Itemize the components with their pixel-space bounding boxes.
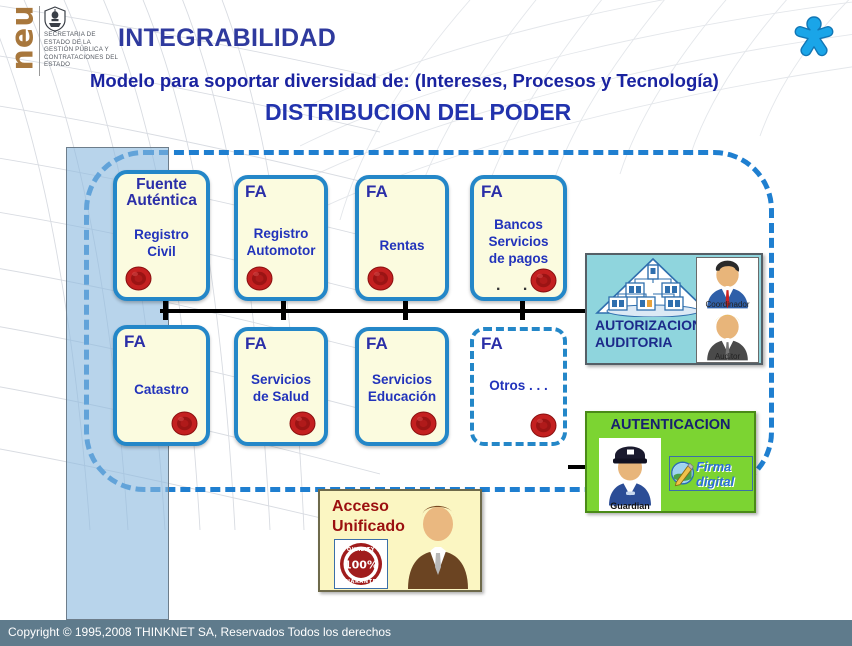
acceso-line2: Unificado [332, 517, 405, 537]
logo-divider [39, 6, 40, 76]
badge-percent: 100% [344, 559, 378, 572]
fa-tag: FA [366, 182, 388, 201]
fa-tag: Fuente Auténtica [117, 177, 206, 209]
acceso-label: Acceso Unificado [332, 497, 405, 537]
integration-bus-line [160, 309, 592, 313]
fa-tag: FA [481, 334, 503, 353]
fa-box-servicios-educacion[interactable]: FA Servicios Educación [355, 327, 449, 446]
fa-title: Registro Civil [117, 226, 206, 260]
bus-connector-tick [403, 301, 408, 320]
footer-bar: Copyright © 1995,2008 THINKNET SA, Reser… [0, 620, 852, 646]
fa-title: Servicios de Salud [238, 371, 324, 405]
fa-tag: FA [481, 182, 503, 201]
acceso-unificado-panel[interactable]: Acceso Unificado 100% QUALITY GUARANT [318, 489, 482, 592]
page-heading: DISTRIBUCION DEL PODER [265, 99, 571, 126]
svg-text:GUARANTEE: GUARANTEE [341, 579, 380, 585]
wax-seal-icon [367, 266, 394, 291]
autorizacion-line2: AUDITORIA [595, 334, 702, 351]
role-auditor[interactable]: Auditor [697, 310, 758, 362]
coat-of-arms-icon [42, 6, 68, 32]
role-coordinador[interactable]: Coordinador [697, 258, 758, 310]
wax-seal-icon [171, 411, 198, 436]
role-caption: Coordinador [697, 300, 758, 309]
bus-connector-tick [520, 301, 525, 320]
fa-title: Registro Automotor [238, 225, 324, 259]
firma-line1: Firma [696, 459, 734, 474]
firma-digital-badge[interactable]: Firma digital [669, 456, 753, 491]
wax-seal-icon [530, 413, 557, 438]
fa-tag: FA [245, 334, 267, 353]
autorizacion-auditoria-panel[interactable]: AUTORIZACION AUDITORIA Coordinador [585, 253, 763, 365]
copyright-text: Copyright © 1995,2008 THINKNET SA, Reser… [8, 625, 391, 639]
wax-seal-icon [530, 268, 557, 293]
fa-title: Rentas [359, 237, 445, 254]
fa-box-catastro[interactable]: FA Catastro [113, 325, 210, 446]
wax-seal-icon [289, 411, 316, 436]
autorizacion-line1: AUTORIZACION [595, 317, 702, 334]
fa-box-servicios-de-salud[interactable]: FA Servicios de Salud [234, 327, 328, 446]
quality-guarantee-badge-icon: 100% QUALITY GUARANTEE [334, 539, 388, 589]
fa-box-bancos-servicios-de-pagos[interactable]: FA Bancos Servicios de pagos . . [470, 175, 567, 301]
wax-seal-icon [125, 266, 152, 291]
acceso-line1: Acceso [332, 497, 405, 517]
firma-line2: digital [696, 474, 734, 489]
fa-tag: FA [124, 332, 146, 351]
autorizacion-label: AUTORIZACION AUDITORIA [595, 317, 702, 351]
fa-box-rentas[interactable]: FA Rentas [355, 175, 449, 301]
citizen-avatar-icon [404, 497, 472, 589]
page-subtitle: Modelo para soportar diversidad de: (Int… [90, 70, 719, 92]
wax-seal-icon [246, 266, 273, 291]
firma-digital-label: Firma digital [696, 459, 734, 489]
svg-text:QUALITY: QUALITY [347, 547, 375, 553]
autenticacion-label: AUTENTICACION [587, 417, 754, 433]
fa-title: Bancos Servicios de pagos [474, 216, 563, 267]
fa-title: Servicios Educación [359, 371, 445, 405]
organization-logo: neu SECRETARIA DE ESTADO DE LA GESTIÓN P… [6, 4, 118, 78]
wax-seal-icon [410, 411, 437, 436]
organization-name: SECRETARIA DE ESTADO DE LA GESTIÓN PÚBLI… [44, 31, 120, 69]
person-figure-icon [788, 14, 840, 66]
autorizacion-roles: Coordinador Auditor [696, 257, 759, 363]
fa-box-otros[interactable]: FA Otros . . . [470, 327, 567, 446]
fa-title: Catastro [117, 381, 206, 398]
guardian-figure: Guardian [599, 438, 661, 511]
guardian-caption: Guardian [599, 501, 661, 511]
bus-connector-tick [281, 301, 286, 320]
fa-box-registro-automotor[interactable]: FA Registro Automotor [234, 175, 328, 301]
page-title: INTEGRABILIDAD [118, 24, 336, 53]
digital-signature-icon [670, 457, 697, 490]
autenticacion-panel[interactable]: AUTENTICACION Guardian Firma [585, 411, 756, 513]
bus-connector-tick [163, 301, 168, 320]
fa-box-registro-civil[interactable]: Fuente Auténtica Registro Civil [113, 170, 210, 301]
fa-tag: FA [245, 182, 267, 201]
role-caption: Auditor [697, 352, 758, 361]
org-pyramid-icon [593, 257, 713, 317]
neu-wordmark: neu [6, 9, 41, 71]
slide-canvas: neu SECRETARIA DE ESTADO DE LA GESTIÓN P… [0, 0, 852, 646]
fa-tag: FA [366, 334, 388, 353]
fa-title: Otros . . . [474, 377, 563, 394]
